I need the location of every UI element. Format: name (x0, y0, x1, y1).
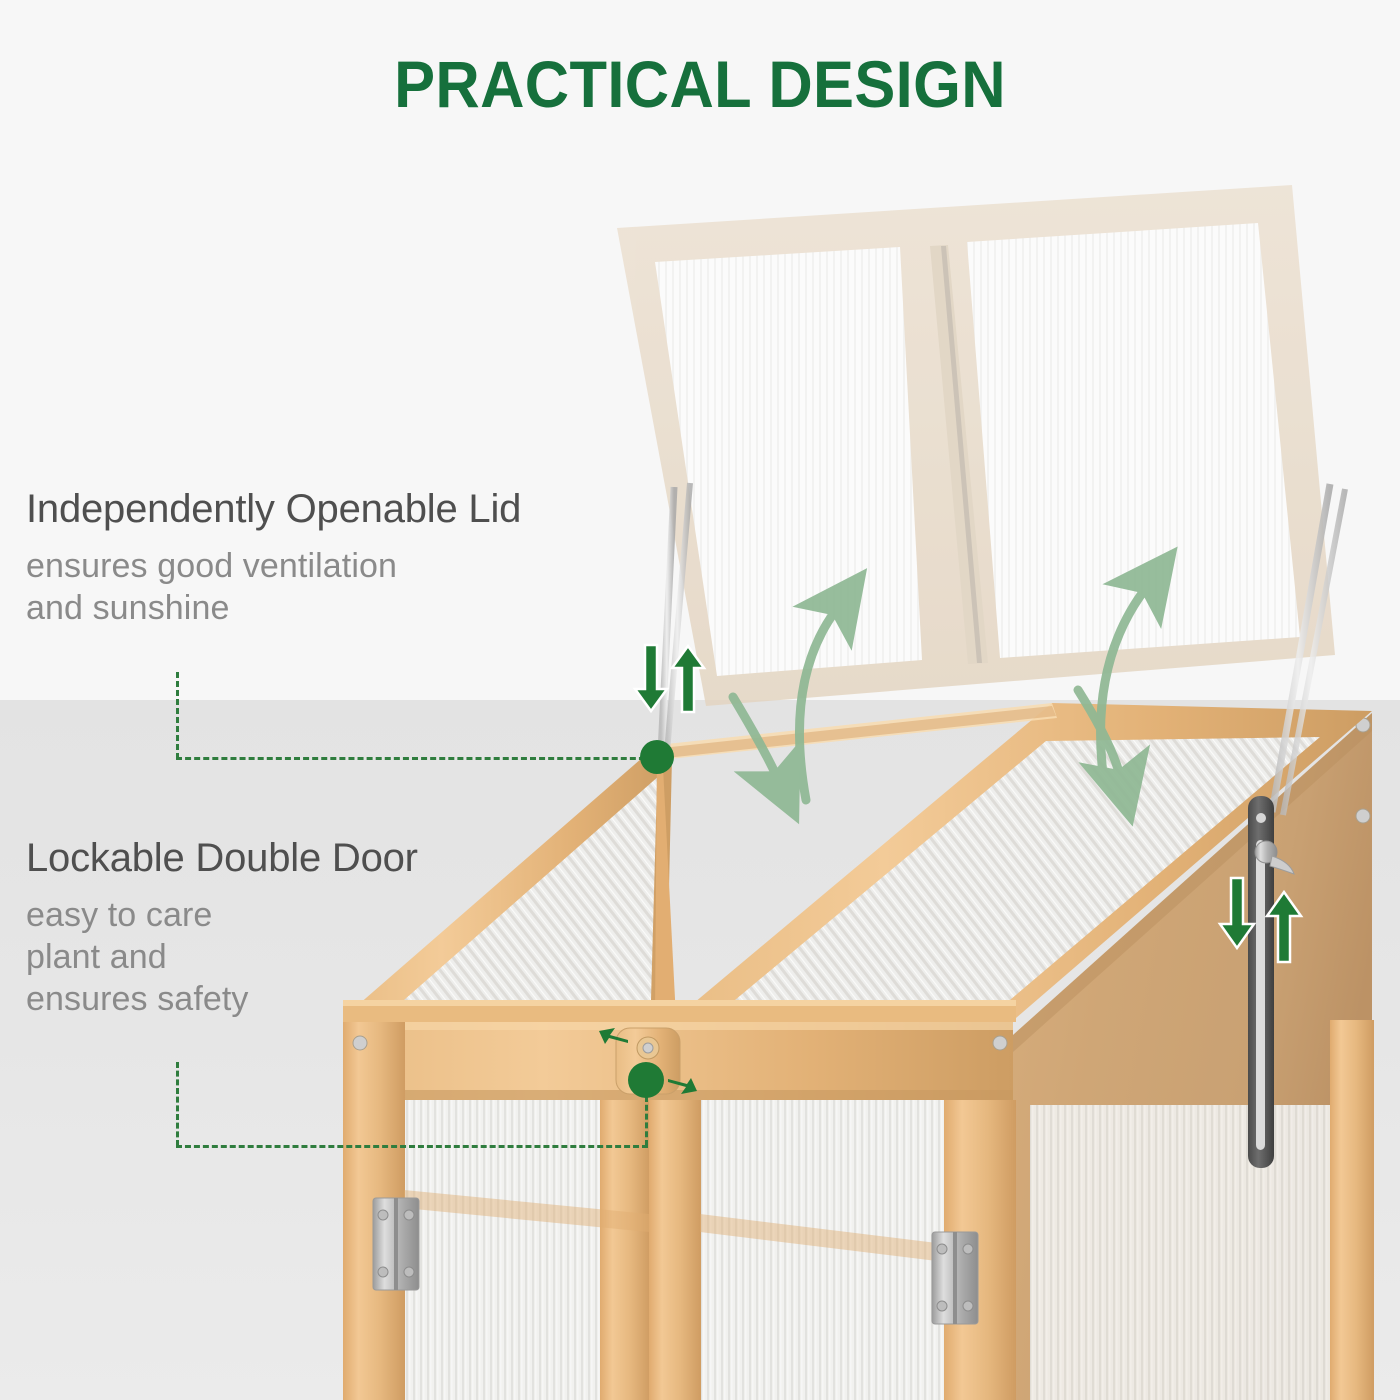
feature-lid-body-line-2: and sunshine (26, 587, 521, 629)
feature-lid-heading: Independently Openable Lid (26, 487, 521, 531)
feature-door-body-line-1: easy to care (26, 894, 418, 936)
product-illustration (0, 0, 1400, 1400)
lid-callout-line-vertical (176, 672, 179, 759)
feature-lid-body-line-1: ensures good ventilation (26, 545, 521, 587)
feature-lid-body: ensures good ventilation and sunshine (26, 545, 521, 629)
open-lid-ghost (617, 185, 1335, 706)
door-hinge-left (373, 1198, 419, 1290)
door-hinge-right (932, 1232, 978, 1324)
door-stile-center-right (649, 1100, 701, 1400)
infographic-canvas: PRACTICAL DESIGN Independently Openable … (0, 0, 1400, 1400)
lid-callout-line-horizontal (176, 757, 654, 760)
side-glazing-right (1030, 1105, 1330, 1400)
corner-post-right (1330, 1020, 1374, 1400)
feature-door-body-line-3: ensures safety (26, 978, 418, 1020)
open-lid-pane-right (967, 223, 1300, 658)
door-callout-line-riser (645, 1096, 648, 1146)
door-callout-line-vertical (176, 1062, 179, 1146)
feature-block-lid: Independently Openable Lid ensures good … (26, 487, 521, 629)
feature-door-body-line-2: plant and (26, 936, 418, 978)
page-title: PRACTICAL DESIGN (49, 46, 1351, 122)
door-lock-callout-dot (628, 1062, 664, 1098)
door-callout-line-horizontal (176, 1145, 648, 1148)
lid-hinge-callout-dot (640, 740, 674, 774)
feature-block-door: Lockable Double Door easy to care plant … (26, 836, 418, 1020)
feature-door-body: easy to care plant and ensures safety (26, 894, 418, 1020)
feature-door-heading: Lockable Double Door (26, 836, 418, 880)
